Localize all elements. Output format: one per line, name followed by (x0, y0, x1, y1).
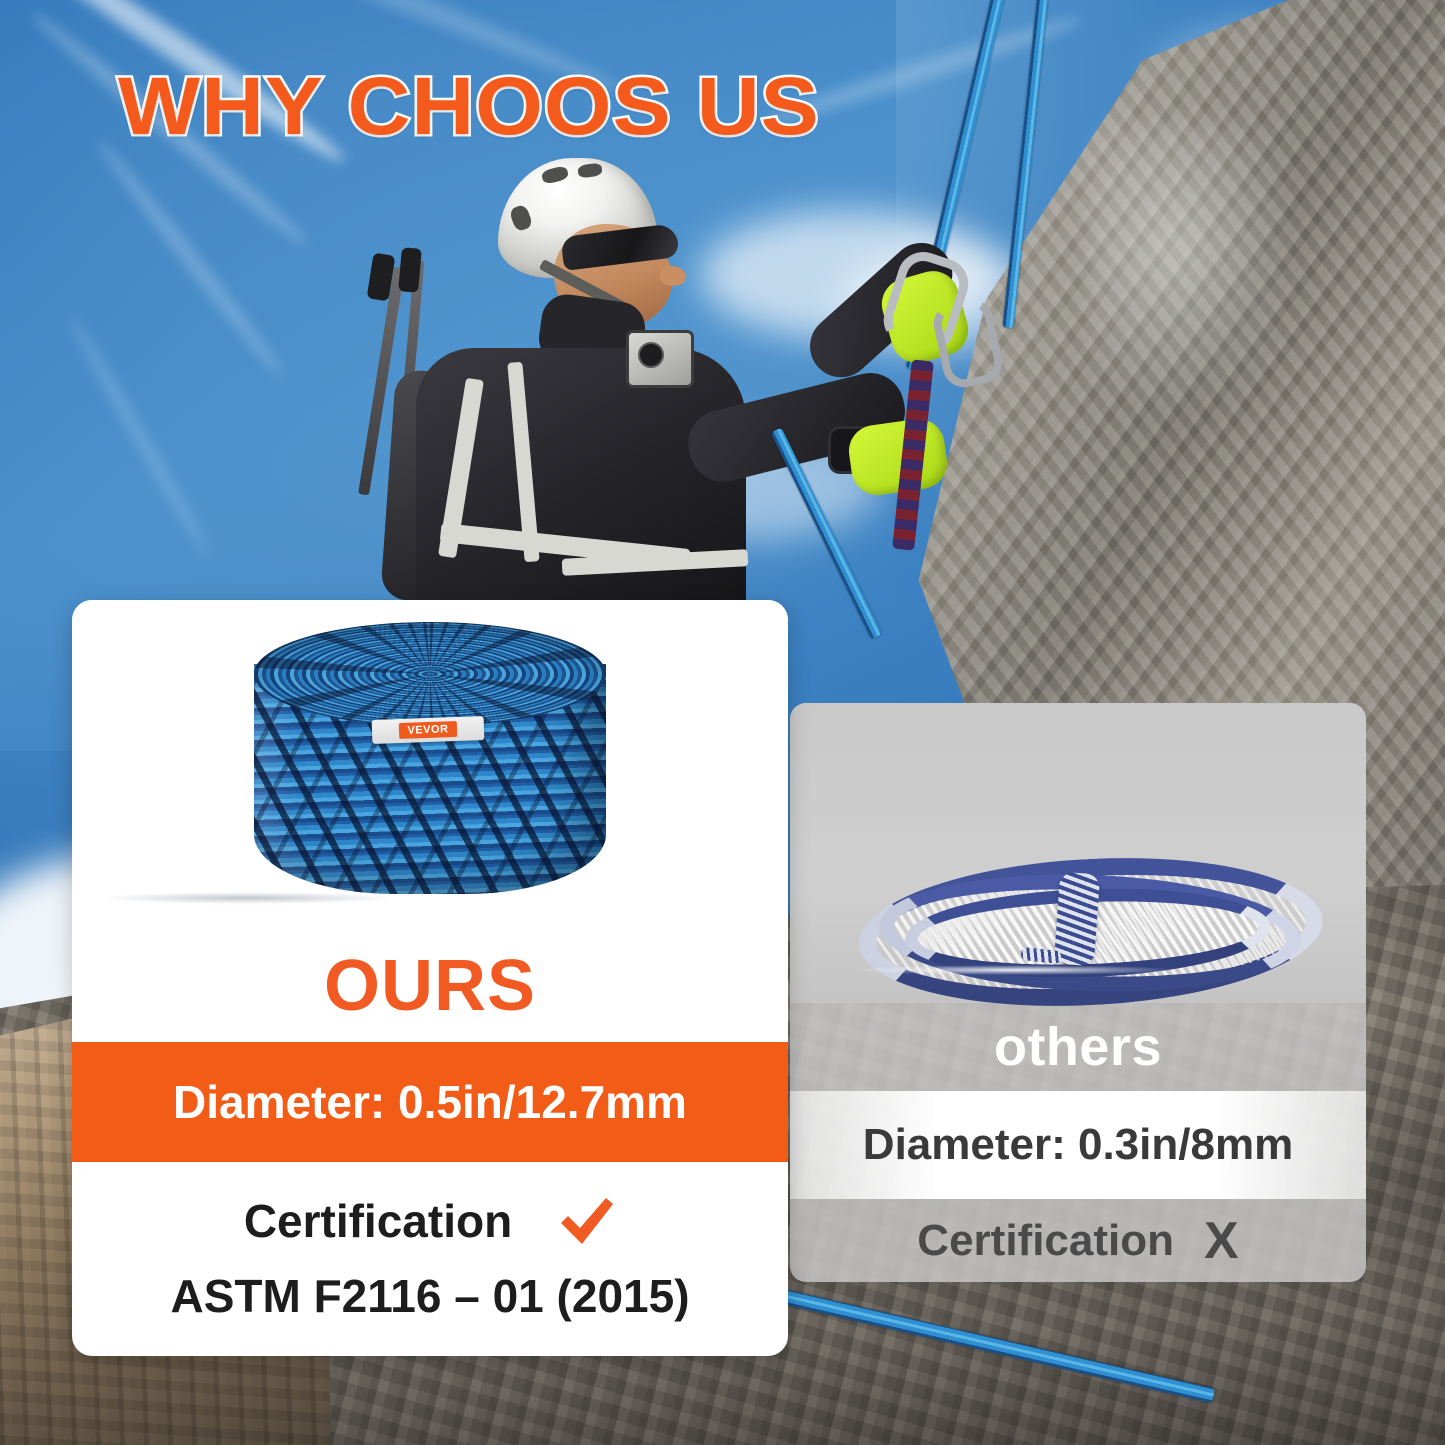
others-certification-label: Certification (917, 1216, 1174, 1266)
pole-grip (398, 247, 422, 293)
rope-coil-top (254, 622, 606, 726)
cross-icon: X (1204, 1211, 1239, 1271)
action-camera (626, 330, 694, 388)
others-diameter-text: Diameter: 0.3in/8mm (863, 1120, 1293, 1170)
others-certification-row: Certification X (790, 1199, 1366, 1282)
ours-diameter-band: Diameter: 0.5in/12.7mm (72, 1042, 788, 1162)
ours-title: OURS (72, 930, 788, 1042)
blue-rope-coil: VEVOR (254, 622, 606, 914)
ours-certification-label: Certification (244, 1194, 512, 1248)
ours-comparison-card: VEVOR OURS Diameter: 0.5in/12.7mm Certif… (72, 600, 788, 1356)
others-diameter-band: Diameter: 0.3in/8mm (790, 1091, 1366, 1199)
others-product-image (790, 703, 1366, 1003)
others-title: others (790, 1003, 1366, 1091)
page-title: WHY CHOOS US (118, 60, 820, 154)
ours-diameter-text: Diameter: 0.5in/12.7mm (173, 1075, 687, 1129)
brand-tag: VEVOR (372, 716, 485, 744)
ours-certification-standard: ASTM F2116 – 01 (2015) (72, 1260, 788, 1332)
infographic-canvas: WHY CHOOS US others Diameter: 0.3in/8mm … (0, 0, 1445, 1445)
nose (660, 266, 686, 286)
check-icon (558, 1195, 616, 1247)
ours-product-image: VEVOR (72, 600, 788, 930)
climber-figure (330, 150, 970, 620)
rock-highlight (1085, 120, 1385, 550)
rope-knot (1054, 872, 1100, 967)
brand-tag-text: VEVOR (399, 721, 457, 739)
ours-certification-row: Certification (72, 1178, 788, 1264)
product-shadow (850, 965, 1180, 975)
others-comparison-card: others Diameter: 0.3in/8mm Certification… (790, 703, 1366, 1282)
product-shadow (102, 892, 394, 904)
